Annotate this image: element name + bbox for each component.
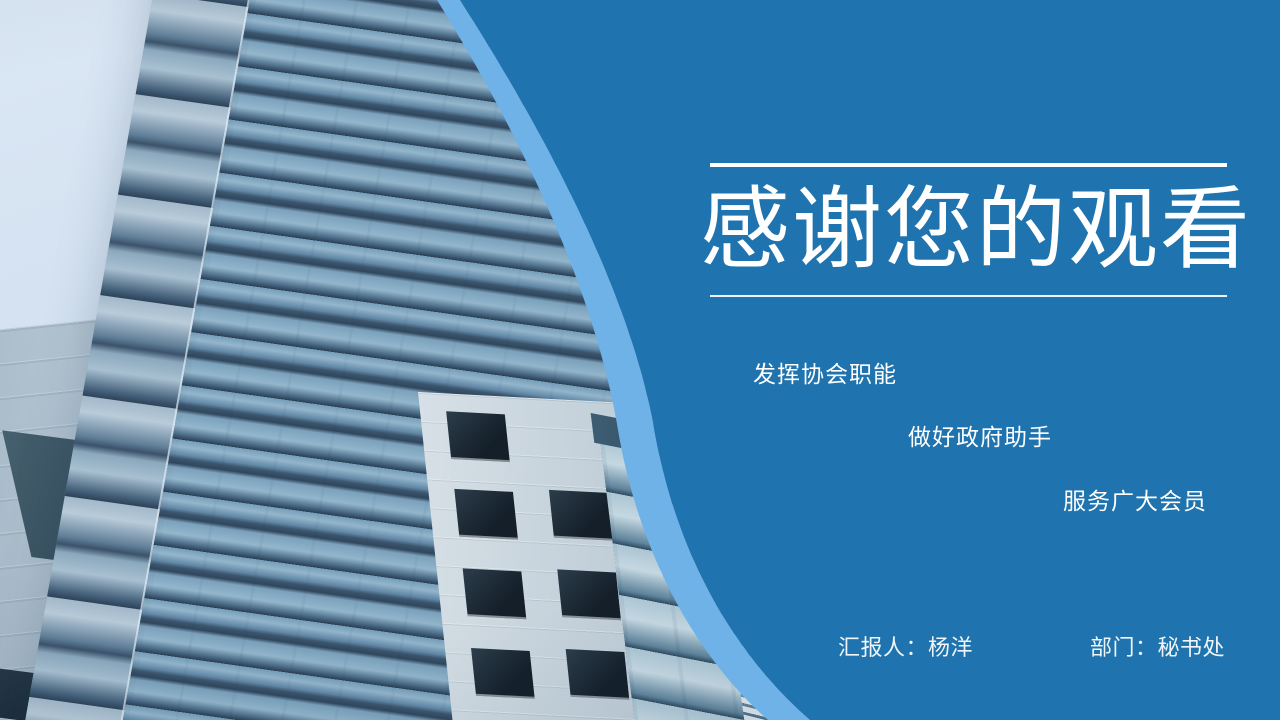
closing-slide: 感谢您的观看 发挥协会职能 做好政府助手 服务广大会员 汇报人：杨洋 部门：秘书… <box>0 0 1280 720</box>
title-rule-top <box>710 163 1227 167</box>
page-title: 感谢您的观看 <box>700 178 1240 282</box>
subtitle-line-2: 做好政府助手 <box>908 422 1052 452</box>
title-rule-bottom <box>710 295 1227 297</box>
slide-content: 感谢您的观看 发挥协会职能 做好政府助手 服务广大会员 汇报人：杨洋 部门：秘书… <box>0 0 1280 720</box>
presenter-label: 汇报人：杨洋 <box>838 633 973 663</box>
subtitle-line-3: 服务广大会员 <box>1063 486 1207 516</box>
subtitle-line-1: 发挥协会职能 <box>753 359 897 389</box>
department-label: 部门：秘书处 <box>1090 633 1225 663</box>
